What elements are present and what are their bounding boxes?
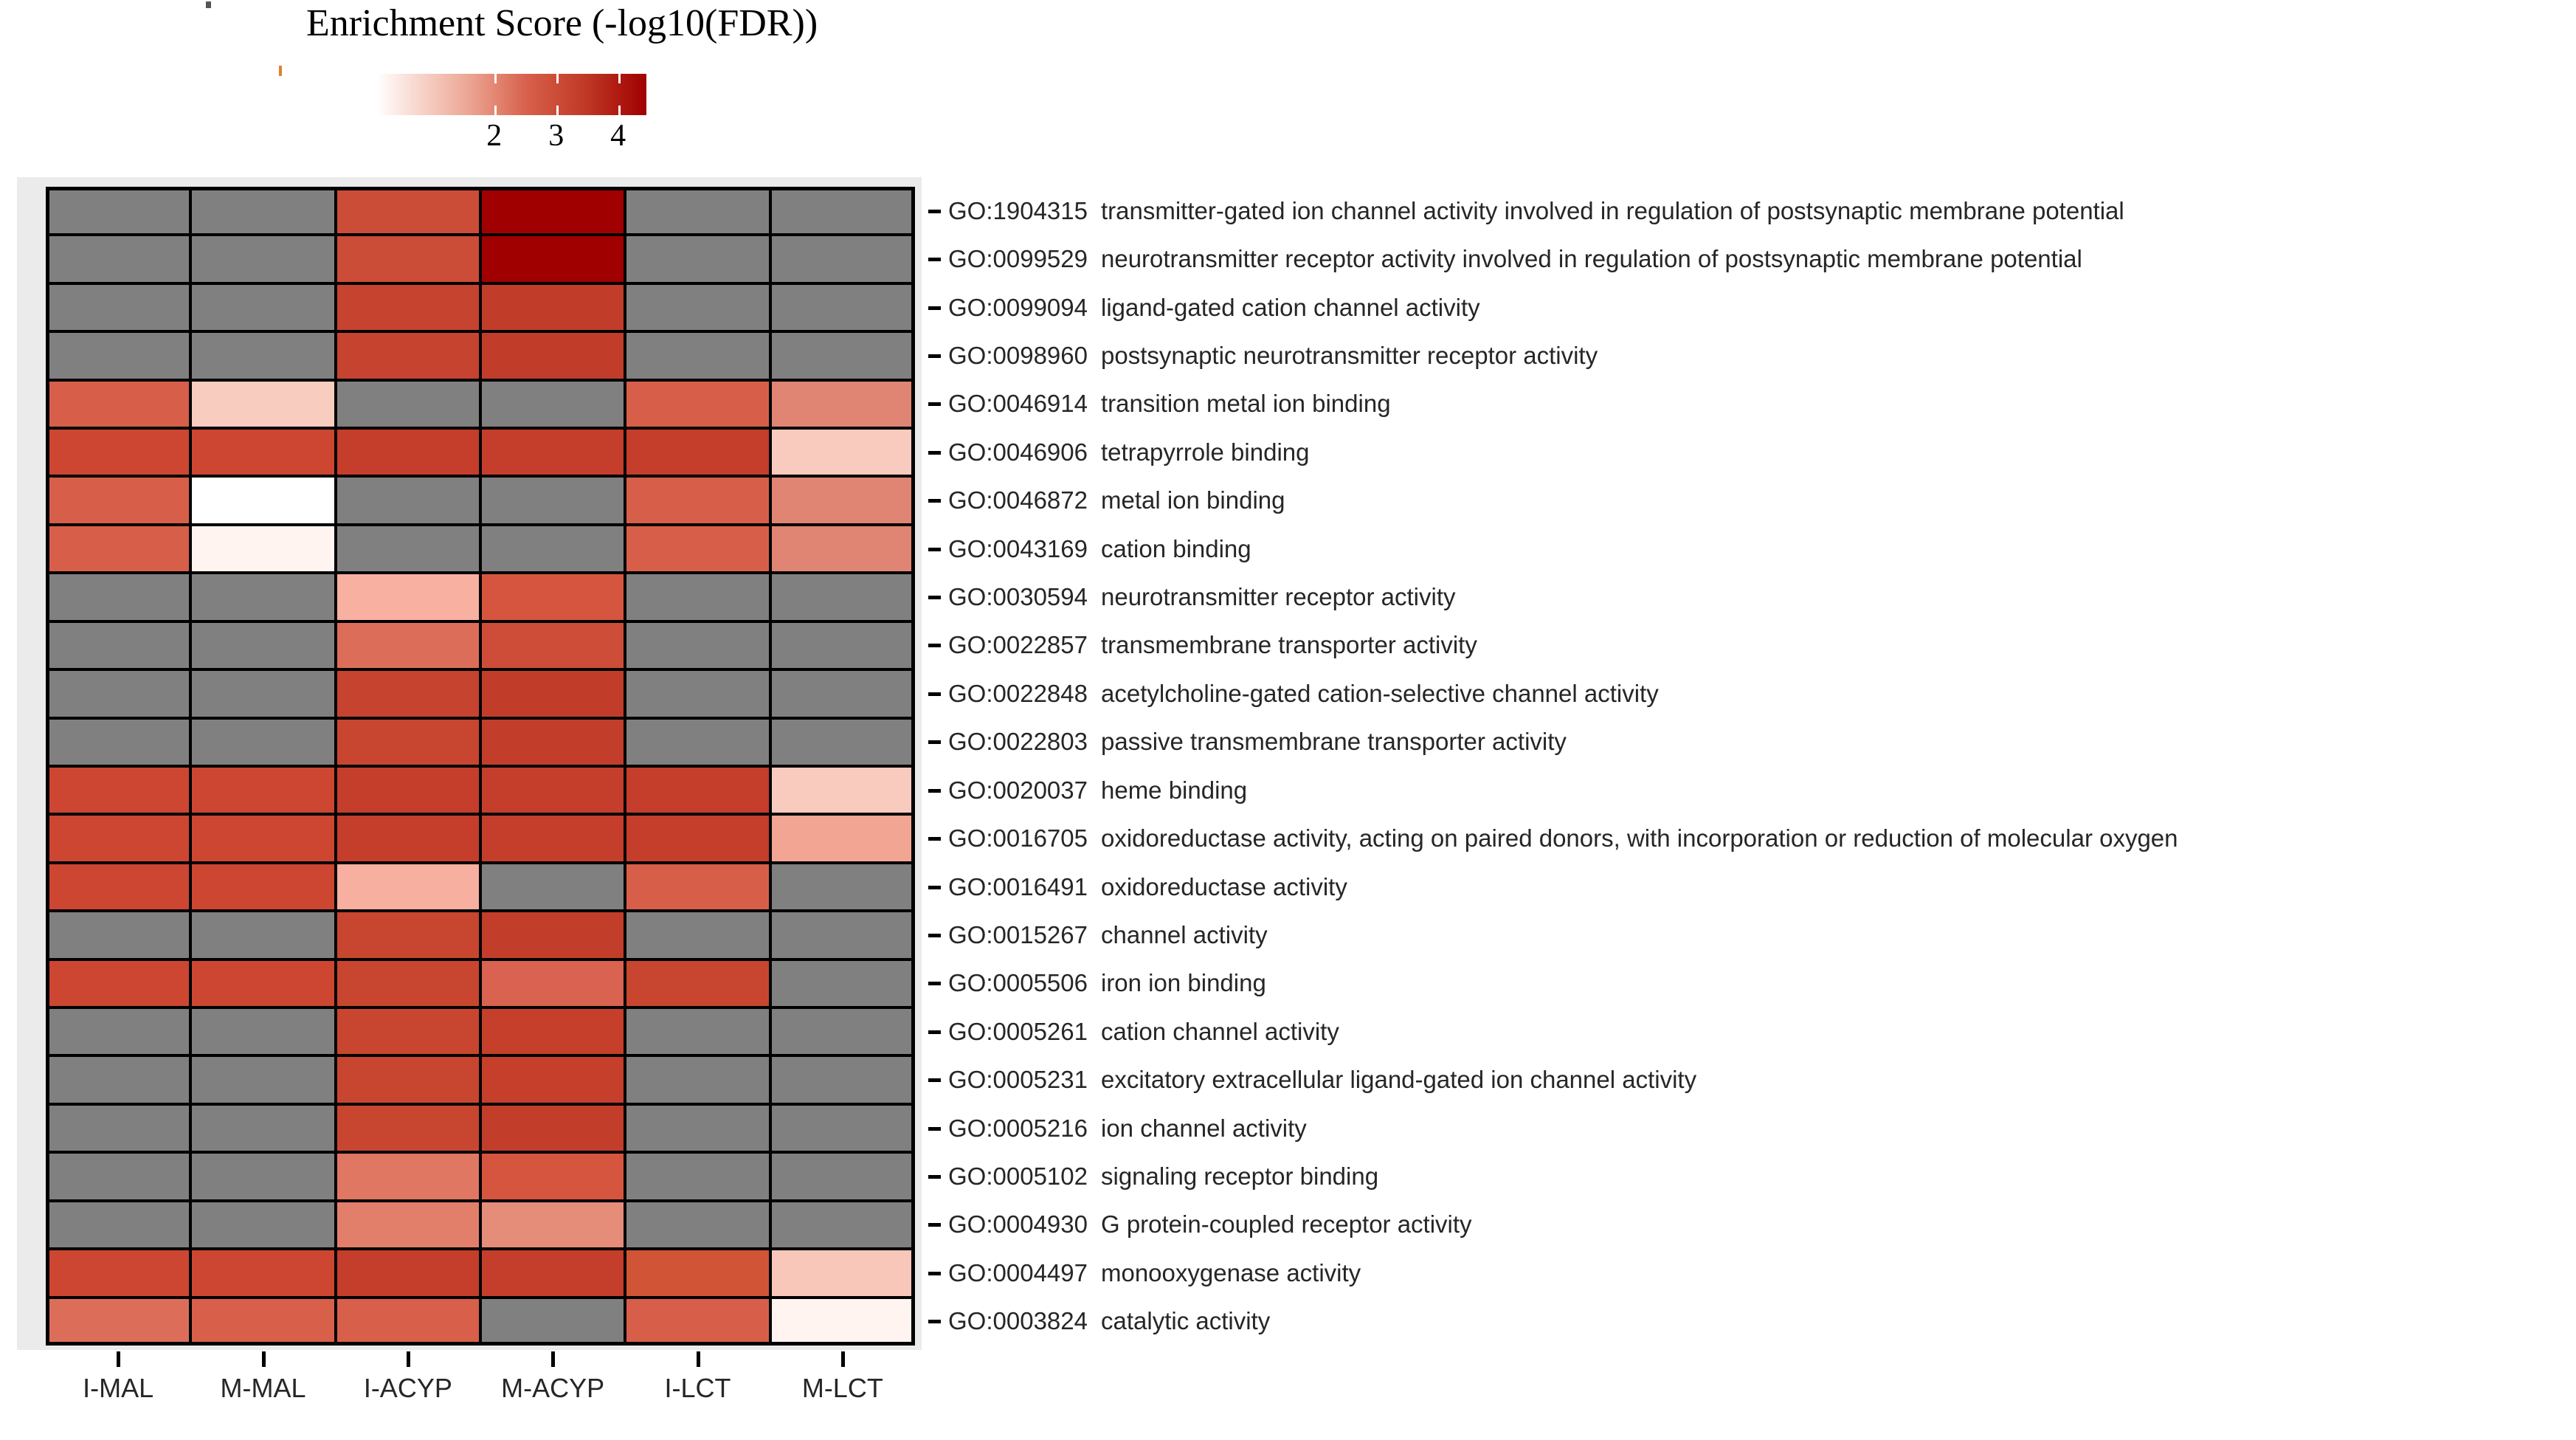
colorbar [377,74,646,115]
go-id: GO:1904315 [948,197,1088,224]
colorbar-title: Enrichment Score (-log10(FDR)) [306,1,818,45]
y-axis-tick [928,499,941,503]
y-axis-label: GO:0022803passive transmembrane transpor… [948,728,1567,756]
colorbar-tick-3 [556,74,559,83]
y-axis-tick [928,258,941,261]
x-axis-tick [117,1351,120,1367]
go-id: GO:0020037 [948,776,1088,804]
x-axis-label-m-acyp: M-ACYP [501,1373,604,1404]
go-term-name: oxidoreductase activity, acting on paire… [1101,824,2178,852]
y-axis-tick [928,837,941,841]
go-term-name: G protein-coupled receptor activity [1101,1210,1472,1238]
x-axis-label-i-acyp: I-ACYP [364,1373,452,1404]
go-term-name: channel activity [1101,921,1268,948]
colorbar-tick-3 [556,106,559,115]
y-axis-tick [928,789,941,793]
go-term-name: transmembrane transporter activity [1101,631,1477,658]
go-id: GO:0022857 [948,631,1088,658]
y-axis-label: GO:0030594neurotransmitter receptor acti… [948,583,1456,611]
colorbar-tick-2 [494,106,497,115]
go-id: GO:0005261 [948,1018,1088,1045]
artifact-mark-2 [279,66,282,76]
y-axis-label: GO:0005261cation channel activity [948,1018,1339,1046]
go-term-name: heme binding [1101,776,1247,804]
y-axis-label: GO:0015267channel activity [948,921,1268,949]
go-id: GO:0016491 [948,873,1088,900]
go-id: GO:0015267 [948,921,1088,948]
go-term-name: postsynaptic neurotransmitter receptor a… [1101,342,1598,369]
y-axis-label: GO:0022857transmembrane transporter acti… [948,631,1477,659]
go-term-name: transmitter-gated ion channel activity i… [1101,197,2124,224]
go-id: GO:0046914 [948,390,1088,417]
y-axis-tick [928,1078,941,1082]
go-id: GO:0046906 [948,438,1088,466]
go-term-name: neurotransmitter receptor activity invol… [1101,245,2082,272]
go-term-name: transition metal ion binding [1101,390,1391,417]
go-id: GO:0005102 [948,1162,1088,1190]
x-axis-label-i-mal: I-MAL [83,1373,153,1404]
y-axis-tick [928,740,941,744]
go-term-name: ion channel activity [1101,1115,1307,1142]
y-axis-tick [928,354,941,358]
y-axis-label: GO:0005102signaling receptor binding [948,1162,1378,1191]
artifact-mark-1 [206,1,211,8]
colorbar-tick-2 [494,74,497,83]
go-term-name: cation channel activity [1101,1018,1339,1045]
y-axis-label: GO:0016491oxidoreductase activity [948,873,1347,901]
go-id: GO:0043169 [948,535,1088,562]
go-term-name: tetrapyrrole binding [1101,438,1310,466]
y-axis-label: GO:0004930G protein-coupled receptor act… [948,1210,1472,1239]
y-axis-label: GO:0005231excitatory extracellular ligan… [948,1066,1696,1094]
x-axis-tick [407,1351,410,1367]
x-axis-label-m-mal: M-MAL [221,1373,306,1404]
go-id: GO:0022848 [948,680,1088,707]
go-term-name: monooxygenase activity [1101,1259,1361,1286]
y-axis-label: GO:0003824catalytic activity [948,1307,1270,1335]
go-term-name: metal ion binding [1101,486,1285,514]
go-id: GO:0005231 [948,1066,1088,1093]
go-id: GO:0004497 [948,1259,1088,1286]
colorbar-tick-4 [618,106,621,115]
y-axis-label: GO:0046914transition metal ion binding [948,390,1391,418]
y-axis-label: GO:0020037heme binding [948,776,1247,805]
x-axis-label-m-lct: M-LCT [802,1373,883,1404]
y-axis-tick [928,548,941,551]
go-term-name: oxidoreductase activity [1101,873,1347,900]
y-axis-tick [928,934,941,937]
y-axis-label: GO:0099529neurotransmitter receptor acti… [948,245,2082,273]
go-term-name: acetylcholine-gated cation-selective cha… [1101,680,1659,707]
heatmap-border [46,187,915,1346]
y-axis-tick [928,210,941,213]
go-id: GO:0098960 [948,342,1088,369]
y-axis-tick [928,1175,941,1179]
colorbar-gradient [377,74,646,115]
y-axis-tick [928,1030,941,1034]
go-id: GO:0005216 [948,1115,1088,1142]
go-term-name: iron ion binding [1101,969,1266,996]
y-axis-label: GO:0046872metal ion binding [948,486,1285,514]
go-id: GO:0046872 [948,486,1088,514]
y-axis-label: GO:0043169cation binding [948,535,1251,563]
y-axis-tick [928,1320,941,1323]
colorbar-tick-label-4: 4 [610,118,626,154]
go-term-name: neurotransmitter receptor activity [1101,583,1456,610]
y-axis-label: GO:0004497monooxygenase activity [948,1259,1361,1287]
colorbar-tick-4 [618,74,621,83]
go-id: GO:0005506 [948,969,1088,996]
y-axis-tick [928,1272,941,1275]
y-axis-tick [928,451,941,455]
x-axis-tick [262,1351,266,1367]
y-axis-tick [928,306,941,310]
go-term-name: ligand-gated cation channel activity [1101,294,1480,321]
x-axis-tick [697,1351,700,1367]
y-axis-tick [928,886,941,889]
y-axis-tick [928,644,941,647]
y-axis-label: GO:0022848acetylcholine-gated cation-sel… [948,680,1659,708]
colorbar-tick-labels: 234 [377,118,646,152]
x-axis-tick [841,1351,845,1367]
y-axis-tick [928,1127,941,1131]
y-axis-label: GO:0099094ligand-gated cation channel ac… [948,294,1480,322]
y-axis-label: GO:0046906tetrapyrrole binding [948,438,1309,466]
x-axis-tick [551,1351,555,1367]
go-id: GO:0099529 [948,245,1088,272]
y-axis-label: GO:0098960postsynaptic neurotransmitter … [948,342,1598,370]
go-id: GO:0099094 [948,294,1088,321]
y-axis-label: GO:1904315transmitter-gated ion channel … [948,197,2124,225]
y-axis-label: GO:0016705oxidoreductase activity, actin… [948,824,2178,852]
colorbar-tick-label-3: 3 [548,118,564,154]
x-axis-label-i-lct: I-LCT [665,1373,731,1404]
go-id: GO:0004930 [948,1210,1088,1238]
go-term-name: signaling receptor binding [1101,1162,1378,1190]
go-id: GO:0022803 [948,728,1088,755]
y-axis-label: GO:0005216ion channel activity [948,1115,1307,1143]
go-term-name: catalytic activity [1101,1307,1270,1334]
y-axis-tick [928,982,941,985]
y-axis-tick [928,402,941,406]
y-axis-tick [928,596,941,599]
colorbar-tick-label-2: 2 [486,118,502,154]
y-axis-label: GO:0005506iron ion binding [948,969,1266,997]
y-axis-tick [928,1223,941,1227]
go-term-name: passive transmembrane transporter activi… [1101,728,1567,755]
y-axis-tick [928,692,941,696]
go-id: GO:0003824 [948,1307,1088,1334]
go-term-name: excitatory extracellular ligand-gated io… [1101,1066,1696,1093]
go-id: GO:0030594 [948,583,1088,610]
go-id: GO:0016705 [948,824,1088,852]
go-term-name: cation binding [1101,535,1251,562]
